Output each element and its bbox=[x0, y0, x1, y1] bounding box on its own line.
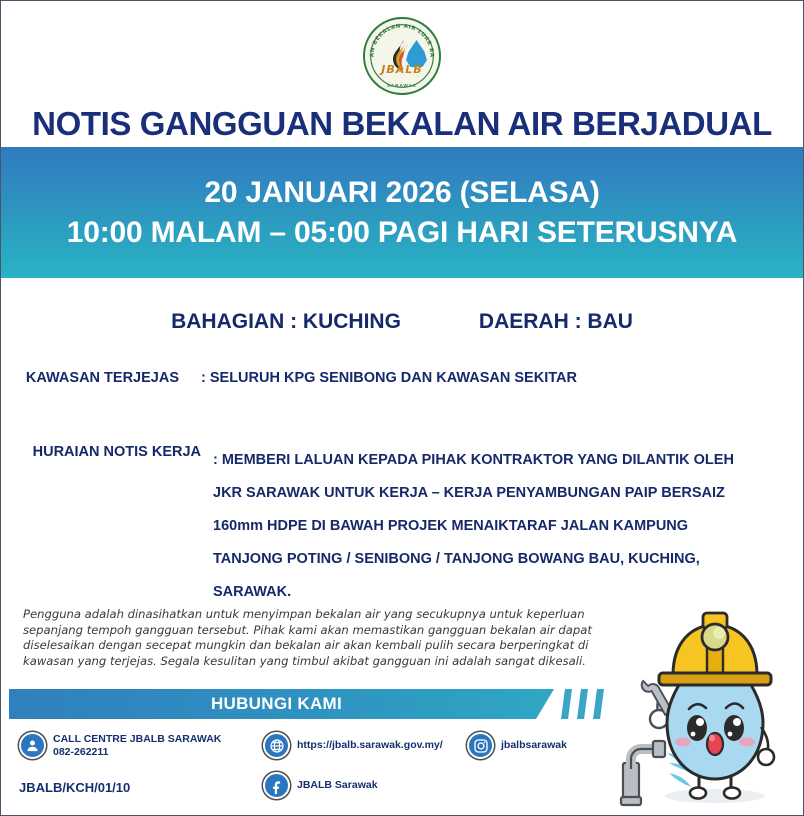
decorative-slash-icon bbox=[577, 689, 588, 719]
region-row: BAHAGIAN : KUCHING DAERAH : BAU bbox=[1, 310, 803, 334]
disclaimer-text: Pengguna adalah dinasihatkan untuk menyi… bbox=[23, 607, 621, 669]
huraian-line: : MEMBERI LALUAN KEPADA PIHAK KONTRAKTOR… bbox=[213, 444, 734, 477]
contact-bar-heading: HUBUNGI KAMI bbox=[211, 694, 342, 714]
facebook-page: JBALB Sarawak bbox=[297, 779, 378, 792]
instagram-handle: jbalbsarawak bbox=[501, 739, 567, 752]
logo-sub-text: SARAWAK bbox=[365, 83, 439, 88]
contact-website[interactable]: https://jbalb.sarawak.gov.my/ bbox=[263, 732, 443, 759]
contact-bar: HUBUNGI KAMI bbox=[9, 689, 554, 719]
huraian-line: 160mm HDPE DI BAWAH PROJEK MENAIKTARAF J… bbox=[213, 510, 734, 543]
kawasan-terjejas-label: KAWASAN TERJEJAS bbox=[1, 370, 179, 386]
call-centre-number: 082-262211 bbox=[53, 746, 221, 759]
huraian-notis-kerja-row: HURAIAN NOTIS KERJA : MEMBERI LALUAN KEP… bbox=[1, 444, 803, 609]
date-time-banner: 20 JANUARI 2026 (SELASA) 10:00 MALAM – 0… bbox=[1, 147, 803, 278]
huraian-notis-kerja-label: HURAIAN NOTIS KERJA bbox=[1, 444, 201, 460]
contact-call-centre[interactable]: CALL CENTRE JBALB SARAWAK 082-262211 bbox=[19, 732, 221, 759]
huraian-line: JKR SARAWAK UNTUK KERJA – KERJA PENYAMBU… bbox=[213, 477, 734, 510]
logo-container: JABATAN BEKALAN AIR LUAR BANDAR JBALB SA… bbox=[1, 15, 803, 97]
contact-facebook[interactable]: JBALB Sarawak bbox=[263, 772, 378, 799]
bahagian-value: BAHAGIAN : KUCHING bbox=[171, 310, 401, 334]
logo-wordmark: JBALB bbox=[365, 63, 439, 76]
jbalb-logo: JABATAN BEKALAN AIR LUAR BANDAR JBALB SA… bbox=[363, 17, 441, 95]
call-centre-text: CALL CENTRE JBALB SARAWAK 082-262211 bbox=[53, 733, 221, 759]
daerah-value: DAERAH : BAU bbox=[479, 310, 633, 334]
huraian-line: TANJONG POTING / SENIBONG / TANJONG BOWA… bbox=[213, 543, 734, 576]
banner-date: 20 JANUARI 2026 (SELASA) bbox=[204, 176, 599, 210]
contact-instagram[interactable]: jbalbsarawak bbox=[467, 732, 567, 759]
contact-bar-wrapper: HUBUNGI KAMI bbox=[9, 689, 613, 719]
banner-time: 10:00 MALAM – 05:00 PAGI HARI SETERUSNYA bbox=[67, 216, 738, 250]
person-icon bbox=[19, 732, 46, 759]
notice-poster: JABATAN BEKALAN AIR LUAR BANDAR JBALB SA… bbox=[0, 0, 804, 816]
decorative-slash-icon bbox=[561, 689, 572, 719]
website-url: https://jbalb.sarawak.gov.my/ bbox=[297, 739, 443, 752]
kawasan-terjejas-row: KAWASAN TERJEJAS : SELURUH KPG SENIBONG … bbox=[1, 370, 803, 386]
water-drop-mascot bbox=[619, 601, 799, 813]
decorative-slash-icon bbox=[593, 689, 604, 719]
globe-icon bbox=[263, 732, 290, 759]
call-centre-name: CALL CENTRE JBALB SARAWAK bbox=[53, 733, 221, 746]
hard-hat-icon bbox=[659, 613, 771, 685]
instagram-icon bbox=[467, 732, 494, 759]
faucet-icon bbox=[621, 741, 665, 805]
reference-code: JBALB/KCH/01/10 bbox=[19, 780, 130, 795]
kawasan-terjejas-value: : SELURUH KPG SENIBONG DAN KAWASAN SEKIT… bbox=[179, 370, 577, 386]
page-title: NOTIS GANGGUAN BEKALAN AIR BERJADUAL bbox=[1, 105, 803, 143]
huraian-notis-kerja-value: : MEMBERI LALUAN KEPADA PIHAK KONTRAKTOR… bbox=[201, 444, 734, 609]
facebook-icon bbox=[263, 772, 290, 799]
